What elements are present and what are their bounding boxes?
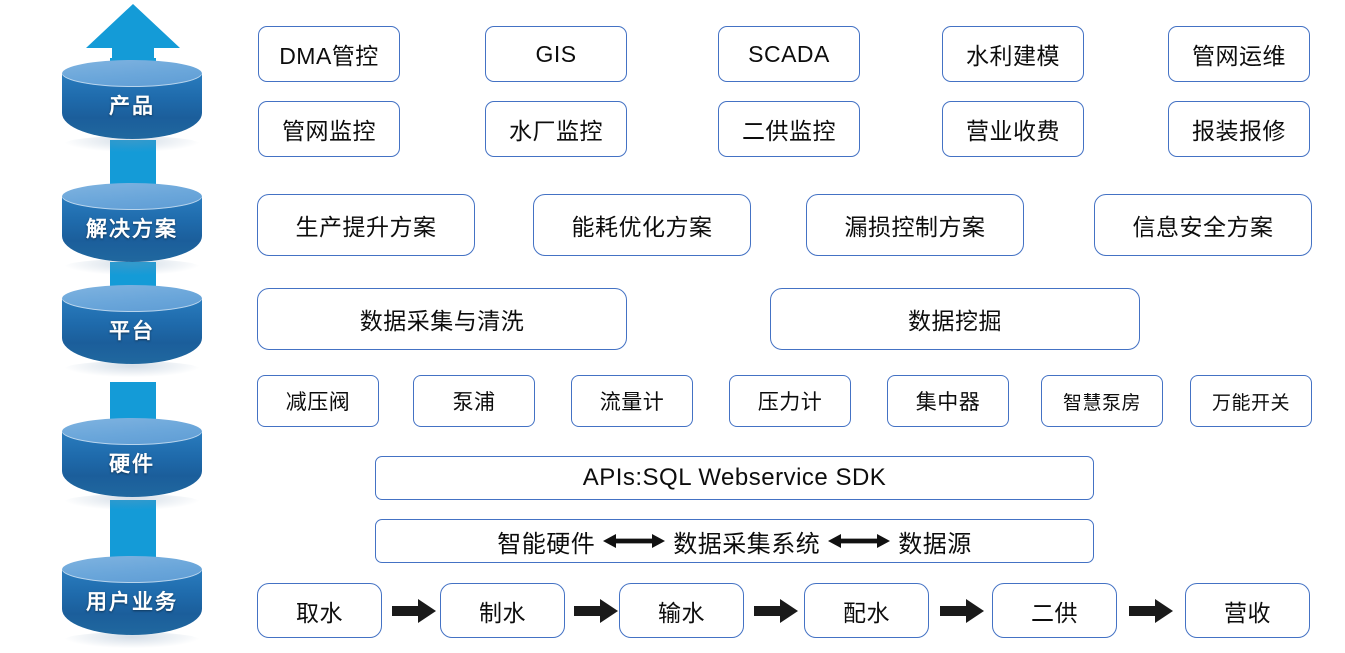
solution-node-leakage[interactable]: 漏损控制方案 <box>806 194 1024 256</box>
platform-node-data-collection[interactable]: 数据采集与清洗 <box>257 288 627 350</box>
hardware-node-pressure-reducing-valve[interactable]: 减压阀 <box>257 375 379 427</box>
business-node-transport[interactable]: 输水 <box>619 583 744 638</box>
layer-label-solution: 解决方案 <box>62 213 202 243</box>
product-node-plant-monitor[interactable]: 水厂监控 <box>485 101 627 157</box>
api-bar[interactable]: APIs:SQL Webservice SDK <box>375 456 1094 500</box>
hardware-node-smart-pump-room[interactable]: 智慧泵房 <box>1041 375 1163 427</box>
pipeline-segment-smart-hardware: 智能硬件 <box>497 524 595 559</box>
hardware-node-pump[interactable]: 泵浦 <box>413 375 535 427</box>
product-node-dma[interactable]: DMA管控 <box>258 26 400 82</box>
solution-node-energy[interactable]: 能耗优化方案 <box>533 194 751 256</box>
pipeline-segment-data-collection-system: 数据采集系统 <box>673 524 820 559</box>
solution-node-production[interactable]: 生产提升方案 <box>257 194 475 256</box>
business-node-distribution[interactable]: 配水 <box>804 583 929 638</box>
business-node-secondary-supply[interactable]: 二供 <box>992 583 1117 638</box>
flow-arrow-icon-3 <box>754 598 798 624</box>
hardware-node-flow-meter[interactable]: 流量计 <box>571 375 693 427</box>
layer-label-hardware: 硬件 <box>62 448 202 478</box>
flow-arrow-icon-4 <box>940 598 984 624</box>
product-node-secondary-monitor[interactable]: 二供监控 <box>718 101 860 157</box>
cylinder-top-ellipse <box>62 556 202 583</box>
product-node-modeling[interactable]: 水利建模 <box>942 26 1084 82</box>
product-node-pipe-monitor[interactable]: 管网监控 <box>258 101 400 157</box>
business-node-treatment[interactable]: 制水 <box>440 583 565 638</box>
layer-label-platform: 平台 <box>62 315 202 345</box>
hardware-node-universal-switch[interactable]: 万能开关 <box>1190 375 1312 427</box>
flow-arrow-icon-1 <box>392 598 436 624</box>
solution-node-security[interactable]: 信息安全方案 <box>1094 194 1312 256</box>
product-node-scada[interactable]: SCADA <box>718 26 860 82</box>
cylinder-top-ellipse <box>62 60 202 87</box>
layer-cylinder-solution[interactable]: 解决方案 <box>62 183 202 275</box>
hardware-node-pressure-gauge[interactable]: 压力计 <box>729 375 851 427</box>
layer-label-product: 产品 <box>62 90 202 120</box>
double-arrow-icon <box>828 533 890 549</box>
product-node-pipe-ops[interactable]: 管网运维 <box>1168 26 1310 82</box>
layer-cylinder-hardware[interactable]: 硬件 <box>62 418 202 510</box>
product-node-install-repair[interactable]: 报装报修 <box>1168 101 1310 157</box>
layer-cylinder-business[interactable]: 用户业务 <box>62 556 202 648</box>
double-arrow-icon <box>603 533 665 549</box>
product-node-gis[interactable]: GIS <box>485 26 627 82</box>
product-node-billing[interactable]: 营业收费 <box>942 101 1084 157</box>
layer-cylinder-product[interactable]: 产品 <box>62 60 202 152</box>
layer-label-business: 用户业务 <box>62 586 202 616</box>
hardware-node-concentrator[interactable]: 集中器 <box>887 375 1009 427</box>
flow-arrow-icon-2 <box>574 598 618 624</box>
business-node-revenue[interactable]: 营收 <box>1185 583 1310 638</box>
layer-cylinder-platform[interactable]: 平台 <box>62 285 202 377</box>
cylinder-top-ellipse <box>62 285 202 312</box>
architecture-diagram: 产品 解决方案 平台 硬件 用户业务 DMA管 <box>0 0 1345 653</box>
pipeline-segment-data-source: 数据源 <box>898 524 972 559</box>
flow-arrow-icon-5 <box>1129 598 1173 624</box>
cylinder-top-ellipse <box>62 418 202 445</box>
business-node-intake[interactable]: 取水 <box>257 583 382 638</box>
platform-node-data-mining[interactable]: 数据挖掘 <box>770 288 1140 350</box>
pipeline-bar[interactable]: 智能硬件 数据采集系统 数据源 <box>375 519 1094 563</box>
cylinder-top-ellipse <box>62 183 202 210</box>
layer-stack: 产品 解决方案 平台 硬件 用户业务 <box>0 0 240 653</box>
content-area: DMA管控 GIS SCADA 水利建模 管网运维 管网监控 水厂监控 二供监控… <box>240 0 1345 653</box>
